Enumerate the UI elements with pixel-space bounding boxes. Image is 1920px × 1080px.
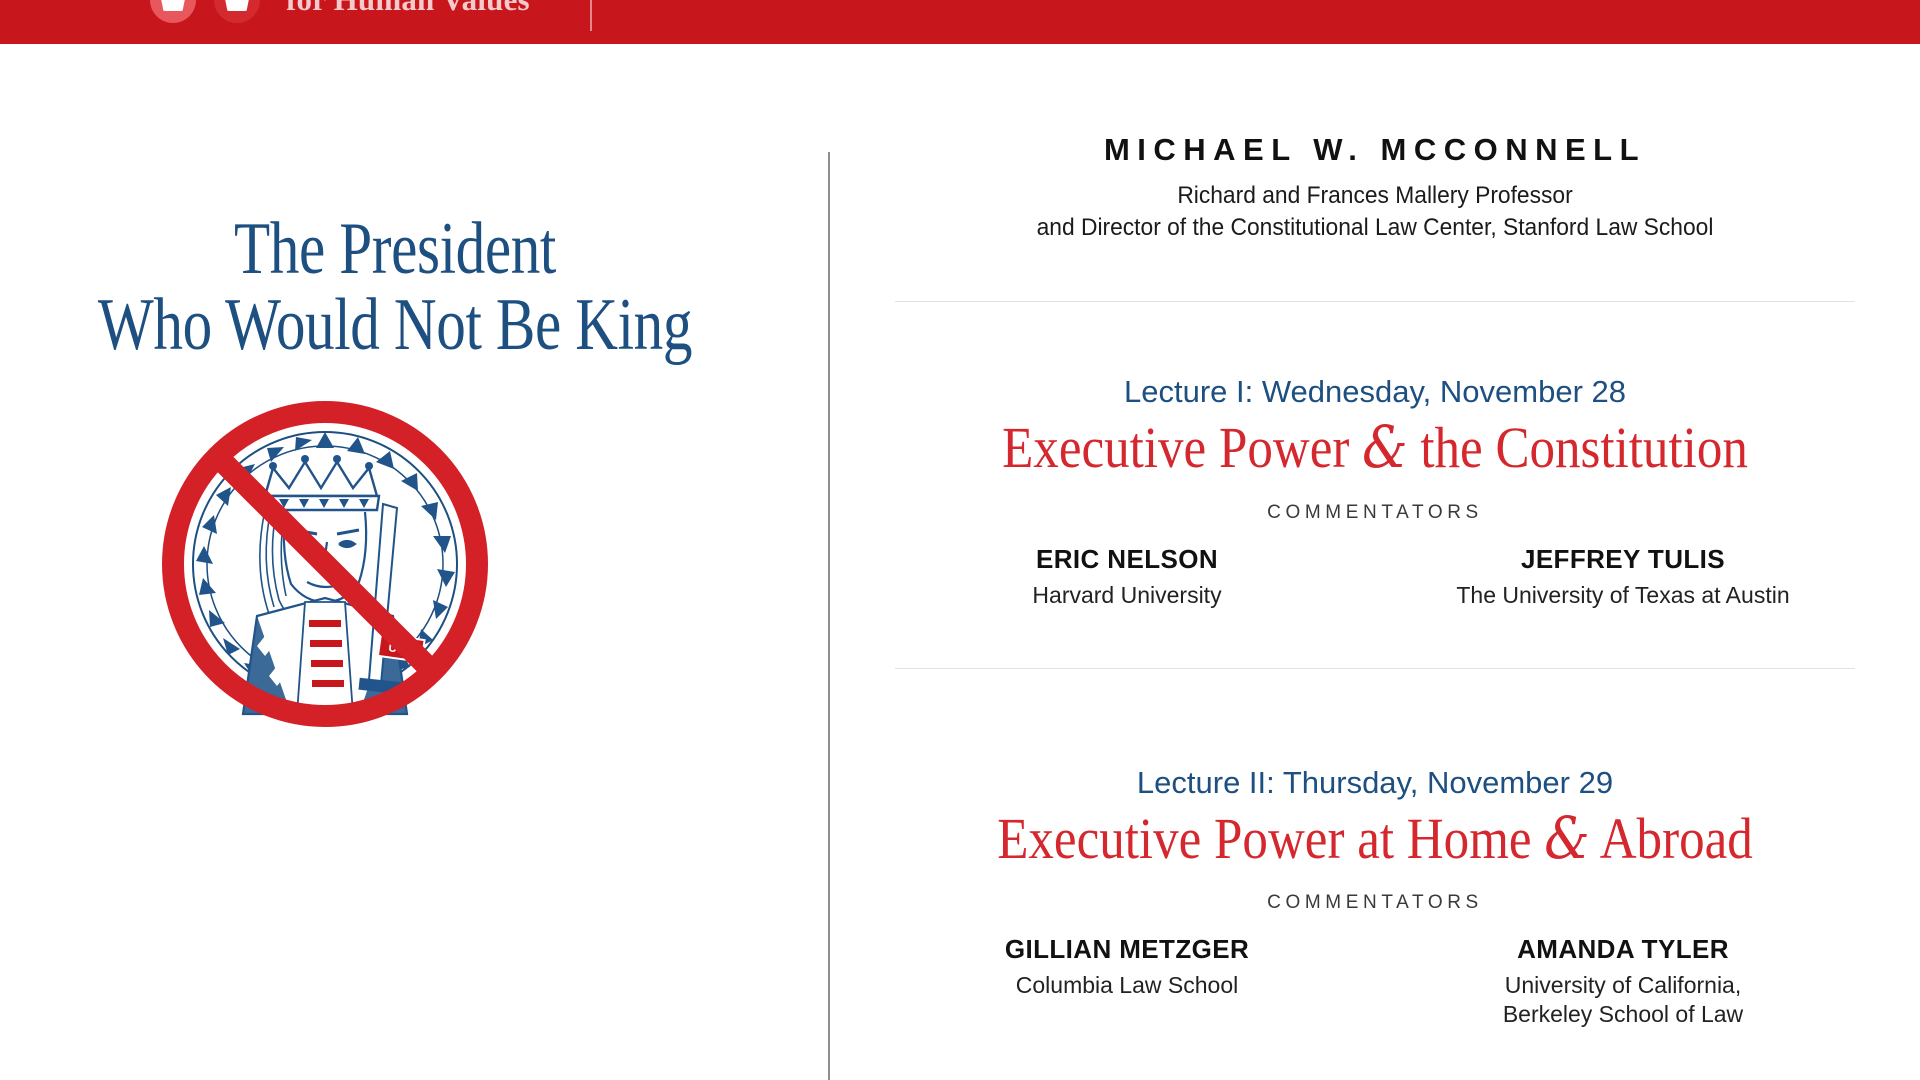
lecture-block-1: Lecture I: Wednesday, November 28 Execut… <box>870 374 1880 609</box>
lecture-2-date: Lecture II: Thursday, November 29 <box>870 765 1880 801</box>
poster-page: for Human Values The President Who Would… <box>0 0 1920 1080</box>
commentator-affiliation: The University of Texas at Austin <box>1423 581 1823 610</box>
banner-content: for Human Values <box>0 0 1920 44</box>
left-panel: The President Who Would Not Be King <box>0 44 830 1080</box>
poster-title-line1: The President <box>79 214 711 284</box>
lecture-2-title: Executive Power at Home & Abroad <box>931 807 1820 871</box>
commentator-affiliation: Columbia Law School <box>927 971 1327 1000</box>
speaker-role-line2: and Director of the Constitutional Law C… <box>895 212 1855 244</box>
banner-divider <box>590 0 592 31</box>
commentator-affiliation-line1: The University of Texas at Austin <box>1423 581 1823 610</box>
column-divider <box>828 152 830 1080</box>
top-banner: for Human Values <box>0 0 1920 44</box>
commentator-affiliation-line1: Columbia Law School <box>927 971 1327 1000</box>
commentator: GILLIAN METZGER Columbia Law School <box>927 934 1327 1029</box>
commentator-affiliation-line1: Harvard University <box>927 581 1327 610</box>
organization-name: for Human Values <box>286 0 530 18</box>
commentator-row-2: GILLIAN METZGER Columbia Law School AMAN… <box>870 934 1880 1029</box>
ampersand-glyph: & <box>1362 413 1407 481</box>
commentator-name: GILLIAN METZGER <box>927 934 1327 965</box>
commentators-label-2: COMMENTATORS <box>870 892 1880 914</box>
commentator: JEFFREY TULIS The University of Texas at… <box>1423 544 1823 610</box>
commentators-label-1: COMMENTATORS <box>870 502 1880 524</box>
speaker-role-line1: Richard and Frances Mallery Professor <box>895 180 1855 212</box>
ampersand-glyph: & <box>1544 804 1589 872</box>
section-divider <box>895 668 1855 669</box>
speaker-role: Richard and Frances Mallery Professor an… <box>895 180 1855 243</box>
section-divider <box>895 301 1855 302</box>
lecture-1-title-pre: Executive Power <box>1002 415 1362 480</box>
poster-title: The President Who Would Not Be King <box>0 214 790 361</box>
commentator-name: AMANDA TYLER <box>1423 934 1823 965</box>
lecture-2-title-pre: Executive Power at Home <box>997 806 1544 871</box>
lecture-1-date: Lecture I: Wednesday, November 28 <box>870 374 1880 410</box>
circle-cup-icon <box>150 0 196 23</box>
commentator-row-1: ERIC NELSON Harvard University JEFFREY T… <box>870 544 1880 610</box>
circle-cup-icon <box>214 0 260 23</box>
lecture-1-title: Executive Power & the Constitution <box>931 416 1820 480</box>
commentator-name: JEFFREY TULIS <box>1423 544 1823 575</box>
speaker-name: MICHAEL W. MCCONNELL <box>870 132 1880 168</box>
commentator: ERIC NELSON Harvard University <box>927 544 1327 610</box>
commentator-affiliation-line2: Berkeley School of Law <box>1423 1000 1823 1029</box>
no-king-illustration: USA <box>145 384 505 744</box>
lecture-block-2: Lecture II: Thursday, November 29 Execut… <box>870 765 1880 1029</box>
commentator-affiliation-line1: University of California, <box>1423 971 1823 1000</box>
lecture-1-title-post: the Constitution <box>1408 415 1748 480</box>
commentator-affiliation: Harvard University <box>927 581 1327 610</box>
commentator-name: ERIC NELSON <box>927 544 1327 575</box>
commentator: AMANDA TYLER University of California, B… <box>1423 934 1823 1029</box>
poster-title-line2: Who Would Not Be King <box>79 290 711 360</box>
right-panel: MICHAEL W. MCCONNELL Richard and Frances… <box>870 44 1880 1080</box>
organization-logo <box>150 0 260 23</box>
lecture-2-title-post: Abroad <box>1590 806 1753 871</box>
commentator-affiliation: University of California, Berkeley Schoo… <box>1423 971 1823 1029</box>
